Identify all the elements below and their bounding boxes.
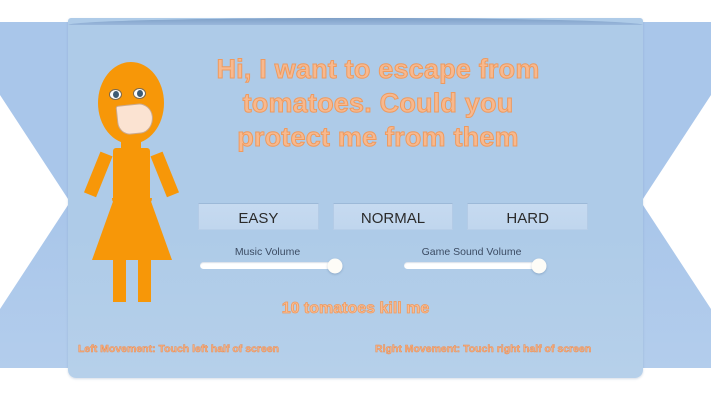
hint-left-movement: Left Movement: Touch left half of screen	[78, 343, 279, 355]
difficulty-button-easy[interactable]: EASY	[198, 203, 319, 230]
orange-girl-avatar	[76, 62, 188, 262]
music-volume-slider[interactable]: Music Volume	[200, 246, 335, 269]
headline-line-3: protect me from them	[178, 120, 578, 154]
avatar-pupil-left	[113, 91, 119, 98]
headline-line-2: tomatoes. Could you	[178, 86, 578, 120]
game-sound-volume-label: Game Sound Volume	[404, 246, 539, 258]
music-volume-label: Music Volume	[200, 246, 335, 258]
game-sound-volume-track[interactable]	[404, 262, 539, 269]
music-volume-track[interactable]	[200, 262, 335, 269]
difficulty-button-normal[interactable]: NORMAL	[333, 203, 454, 230]
tomato-kill-count-text: 10 tomatoes kill me	[68, 300, 643, 318]
headline-line-1: Hi, I want to escape from	[178, 52, 578, 86]
difficulty-selector: EASY NORMAL HARD	[198, 203, 588, 230]
avatar-leg-right	[138, 256, 151, 302]
avatar-leg-left	[113, 256, 126, 302]
avatar-arm-left	[84, 152, 113, 198]
hint-right-movement: Right Movement: Touch right half of scre…	[375, 343, 591, 355]
avatar-pupil-right	[137, 90, 143, 97]
headline: Hi, I want to escape from tomatoes. Coul…	[178, 52, 578, 154]
game-sound-volume-slider[interactable]: Game Sound Volume	[404, 246, 539, 269]
difficulty-button-hard[interactable]: HARD	[467, 203, 588, 230]
panel-top-cap	[68, 18, 643, 25]
game-sound-volume-thumb[interactable]	[532, 258, 547, 273]
avatar-skirt	[92, 202, 172, 260]
avatar-arm-right	[150, 152, 179, 198]
music-volume-thumb[interactable]	[328, 258, 343, 273]
game-screen: Hi, I want to escape from tomatoes. Coul…	[0, 0, 711, 400]
